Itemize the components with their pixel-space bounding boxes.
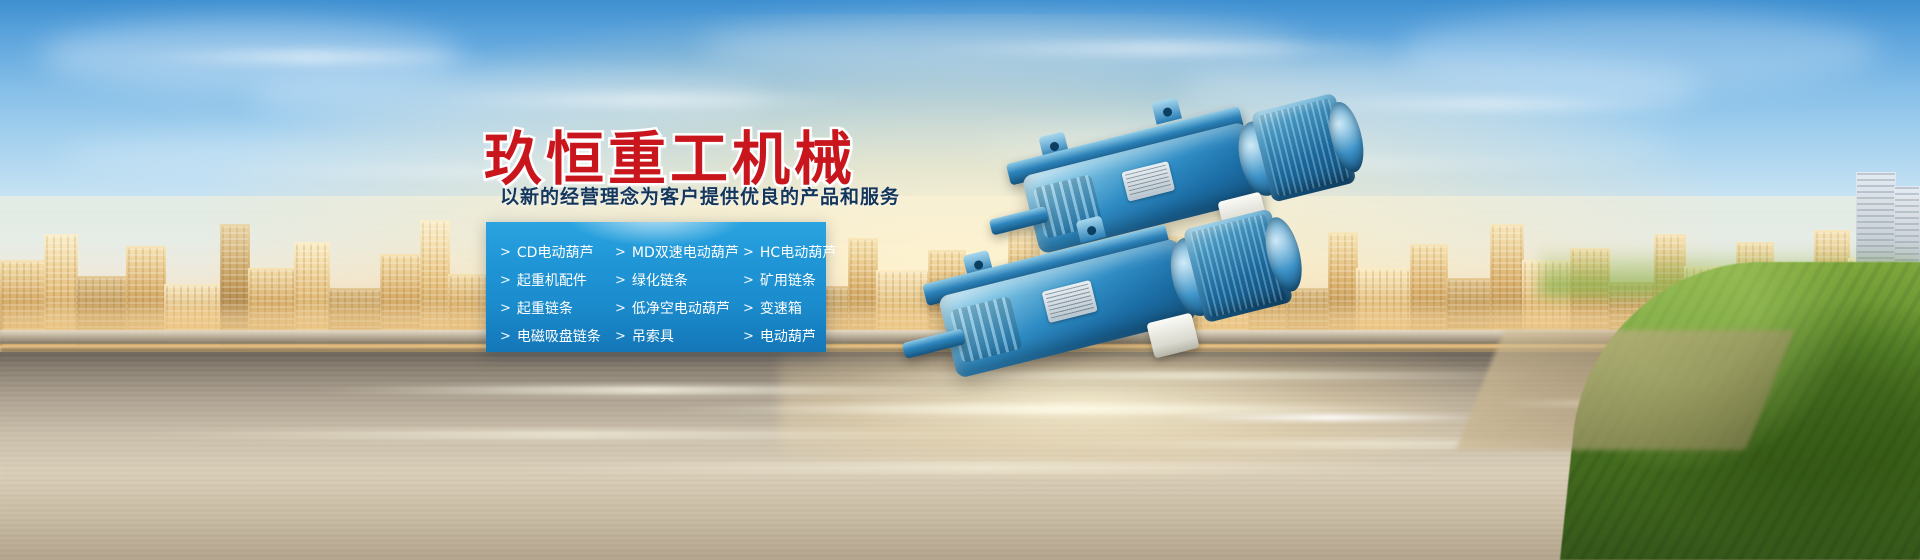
product-link-label: 绿化链条 (632, 270, 688, 290)
product-link-low-headroom-hoist[interactable]: > 低净空电动葫芦 (615, 294, 743, 322)
product-link-md-dual-speed-hoist[interactable]: > MD双速电动葫芦 (615, 238, 743, 266)
hero-banner: 玖恒重工机械 以新的经营理念为客户提供优良的产品和服务 > CD电动葫芦 > M… (0, 0, 1920, 560)
product-link-hc-electric-hoist[interactable]: > HC电动葫芦 (743, 238, 836, 266)
product-link-label: 电动葫芦 (760, 326, 816, 346)
product-link-label: 起重链条 (517, 298, 573, 318)
product-link-label: 矿用链条 (760, 270, 816, 290)
banner-copy: 玖恒重工机械 以新的经营理念为客户提供优良的产品和服务 > CD电动葫芦 > M… (0, 0, 1920, 560)
product-link-label: 变速箱 (760, 298, 802, 318)
product-link-cd-electric-hoist[interactable]: > CD电动葫芦 (500, 238, 615, 266)
chevron-right-icon: > (615, 330, 626, 343)
chevron-right-icon: > (743, 330, 754, 343)
chevron-right-icon: > (743, 246, 754, 259)
banner-tagline: 以新的经营理念为客户提供优良的产品和服务 (500, 182, 900, 209)
product-link-label: HC电动葫芦 (760, 242, 836, 262)
product-link-greening-chain[interactable]: > 绿化链条 (615, 266, 743, 294)
product-list-grid: > CD电动葫芦 > MD双速电动葫芦 > HC电动葫芦 > 起重机配件 > (486, 222, 826, 352)
product-link-label: CD电动葫芦 (517, 242, 594, 262)
chevron-right-icon: > (615, 274, 626, 287)
product-link-label: MD双速电动葫芦 (632, 242, 739, 262)
product-link-label: 吊索具 (632, 326, 674, 346)
product-list-panel: > CD电动葫芦 > MD双速电动葫芦 > HC电动葫芦 > 起重机配件 > (486, 222, 826, 352)
product-link-slings[interactable]: > 吊索具 (615, 322, 743, 350)
product-link-label: 起重机配件 (517, 270, 587, 290)
chevron-right-icon: > (500, 302, 511, 315)
chevron-right-icon: > (500, 246, 511, 259)
chevron-right-icon: > (500, 330, 511, 343)
product-link-lifting-chain[interactable]: > 起重链条 (500, 294, 615, 322)
chevron-right-icon: > (743, 274, 754, 287)
chevron-right-icon: > (615, 246, 626, 259)
product-link-electric-hoist[interactable]: > 电动葫芦 (743, 322, 836, 350)
chevron-right-icon: > (743, 302, 754, 315)
product-link-label: 电磁吸盘链条 (517, 326, 601, 346)
product-link-magnetic-chuck-chain[interactable]: > 电磁吸盘链条 (500, 322, 615, 350)
product-link-crane-parts[interactable]: > 起重机配件 (500, 266, 615, 294)
product-link-mining-chain[interactable]: > 矿用链条 (743, 266, 836, 294)
chevron-right-icon: > (615, 302, 626, 315)
product-link-gearbox[interactable]: > 变速箱 (743, 294, 836, 322)
product-link-label: 低净空电动葫芦 (632, 298, 730, 318)
chevron-right-icon: > (500, 274, 511, 287)
